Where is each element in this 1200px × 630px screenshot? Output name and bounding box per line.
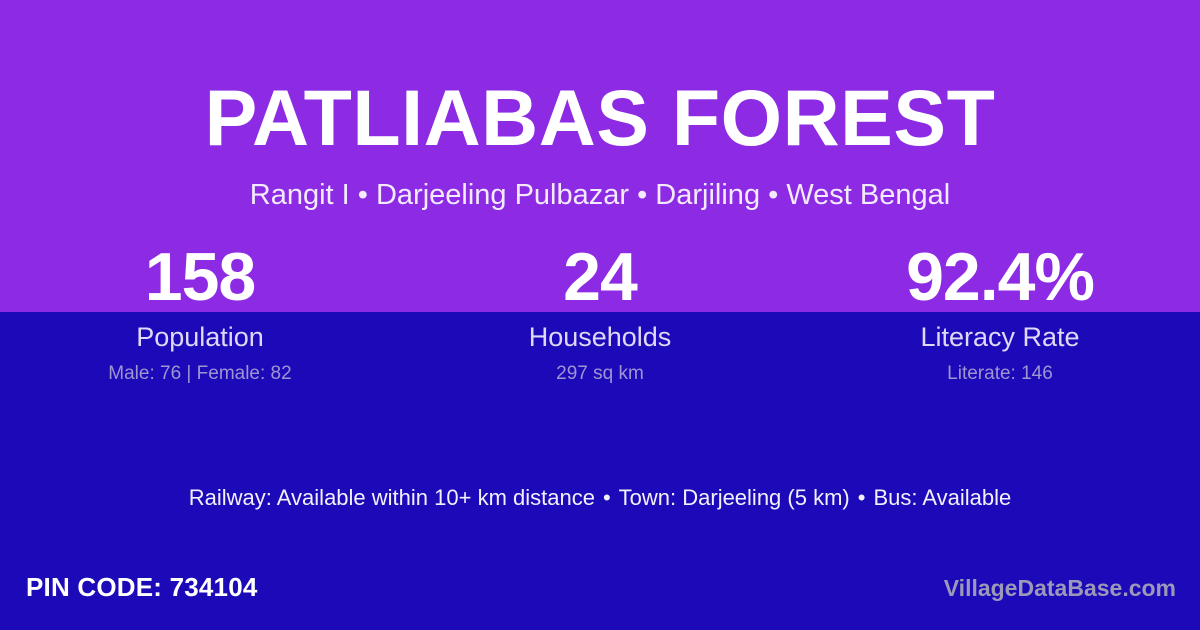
location-breadcrumb: Rangit I • Darjeeling Pulbazar • Darjili… — [0, 180, 1200, 212]
pin-code: PIN CODE: 734104 — [26, 574, 258, 600]
stat-literacy: 92.4% Literacy Rate Literate: 146 — [800, 243, 1200, 383]
page-title: PATLIABAS FOREST — [0, 78, 1200, 157]
stat-households-label: Households — [400, 324, 800, 351]
stat-population-value: 158 — [0, 243, 400, 311]
village-info-card: PATLIABAS FOREST Rangit I • Darjeeling P… — [0, 0, 1200, 630]
stat-households: 24 Households 297 sq km — [400, 243, 800, 383]
infrastructure-line: Railway: Available within 10+ km distanc… — [0, 485, 1200, 511]
stat-literacy-count: Literate: 146 — [800, 364, 1200, 383]
infra-separator-2: • — [850, 485, 874, 510]
infra-town: Town: Darjeeling (5 km) — [619, 485, 850, 510]
stat-literacy-label: Literacy Rate — [800, 324, 1200, 351]
infra-separator-1: • — [595, 485, 619, 510]
stat-households-area: 297 sq km — [400, 364, 800, 383]
stat-households-value: 24 — [400, 243, 800, 311]
infra-bus: Bus: Available — [873, 485, 1011, 510]
stats-row: 158 Population Male: 76 | Female: 82 24 … — [0, 243, 1200, 383]
stat-population-label: Population — [0, 324, 400, 351]
brand-watermark: VillageDataBase.com — [944, 577, 1176, 600]
infra-railway: Railway: Available within 10+ km distanc… — [189, 485, 595, 510]
stat-literacy-value: 92.4% — [800, 243, 1200, 311]
stat-population: 158 Population Male: 76 | Female: 82 — [0, 243, 400, 383]
stat-population-breakdown: Male: 76 | Female: 82 — [0, 364, 400, 383]
